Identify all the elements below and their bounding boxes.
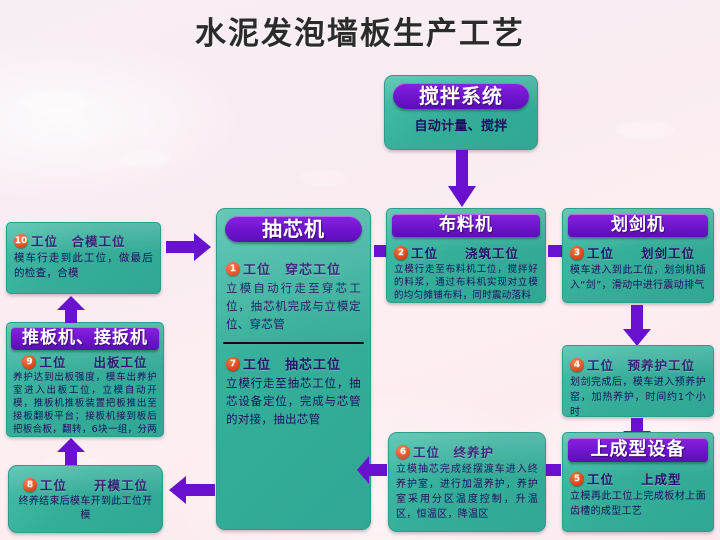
background-blob xyxy=(20,90,90,116)
board-pusher-header: 推板机、接扳机 xyxy=(11,327,159,350)
core-machine-step-1-body: 立模自动行走至穿芯工位，抽芯机完成与立模定位、穿芯管 xyxy=(226,279,361,333)
station-number-badge: 1 xyxy=(226,262,240,276)
arrow-finalcuring-to-coremachine xyxy=(356,455,388,485)
forming-station-line: 5 工位 上成型 xyxy=(570,469,706,488)
station-number-badge: 8 xyxy=(23,478,37,492)
station-label: 工位 穿芯工位 xyxy=(243,259,341,278)
station-number-badge: 9 xyxy=(22,355,36,369)
mold-close-station-line: 10 工位 合模工位 xyxy=(14,231,153,250)
station-number-badge: 4 xyxy=(570,358,584,372)
arrow-swordmachine-to-precuring xyxy=(622,305,652,347)
station-number-badge: 5 xyxy=(570,472,584,486)
node-demold-station[interactable]: 8 工位 开模工位 终养结束后模车开到此工位开模 xyxy=(8,465,163,533)
node-distributor-machine[interactable]: 布料机 2 工位 浇筑工位 立模行走至布料机工位，搅拌好的料浆，通过布料机实现对… xyxy=(386,208,546,303)
node-core-machine[interactable]: 抽芯机 1 工位 穿芯工位 立模自动行走至穿芯工位，抽芯机完成与立模定位、穿芯管… xyxy=(216,208,371,530)
sword-machine-header: 划剑机 xyxy=(568,214,708,237)
core-machine-step-1-line: 1 工位 穿芯工位 xyxy=(226,259,361,278)
final-curing-body: 立模抽芯完成经摆渡车进入终养护室，进行加温养护，养护室采用分区温度控制，升温区，… xyxy=(396,462,538,522)
station-number-badge: 3 xyxy=(570,246,584,260)
node-mold-close-station[interactable]: 10 工位 合模工位 模车行走到此工位，做最后的检查，合模 xyxy=(6,222,161,294)
mixing-system-header: 搅拌系统 xyxy=(393,83,529,109)
forming-equipment-header: 上成型设备 xyxy=(568,438,708,462)
node-forming-equipment[interactable]: 上成型设备 5 工位 上成型 立模再此工位上完成板材上面齿槽的成型工艺 xyxy=(562,432,714,532)
pre-curing-body: 划剑完成后，模车进入预养护窑，加热养护，时间约1个小时 xyxy=(570,375,706,417)
background-blob xyxy=(120,150,170,168)
station-number-badge: 6 xyxy=(396,445,410,459)
station-label: 工位 终养护 xyxy=(413,442,494,461)
pre-curing-station-line: 4 工位 预养护工位 xyxy=(570,355,706,374)
mixing-system-body: 自动计量、搅拌 xyxy=(385,118,537,136)
station-label: 工位 合模工位 xyxy=(31,231,126,250)
node-final-curing-station[interactable]: 6 工位 终养护 立模抽芯完成经摆渡车进入终养护室，进行加温养护，养护室采用分区… xyxy=(388,432,546,532)
node-mixing-system[interactable]: 搅拌系统 自动计量、搅拌 xyxy=(384,75,538,150)
station-label: 工位 预养护工位 xyxy=(587,355,695,374)
forming-body: 立模再此工位上完成板材上面齿槽的成型工艺 xyxy=(570,489,706,519)
core-machine-step-7-body: 立模行走至抽芯工位，抽芯设备定位，完成与芯管的对接，抽出芯管 xyxy=(226,374,361,428)
node-board-pusher[interactable]: 推板机、接扳机 9 工位 出板工位 养护达到出板强度，模车出养护室进入出板工位，… xyxy=(6,322,164,437)
station-label: 工位 划剑工位 xyxy=(587,243,695,262)
station-number-badge: 7 xyxy=(226,357,240,371)
station-label: 工位 浇筑工位 xyxy=(411,243,519,262)
core-machine-header: 抽芯机 xyxy=(225,216,362,242)
sword-machine-body: 模车进入到此工位，划剑机插入“剑”，滑动中进行震动排气 xyxy=(570,263,706,293)
arrow-coremachine-to-demold xyxy=(168,475,216,505)
board-pusher-station-line: 9 工位 出板工位 xyxy=(13,352,157,371)
flowchart-canvas: 水泥发泡墙板生产工艺 搅拌系统 自动计量、搅拌 10 工位 合模工位 模车行走到… xyxy=(0,0,720,540)
arrow-moldclose-to-coremachine xyxy=(166,232,212,262)
core-machine-divider xyxy=(223,342,364,344)
demold-station-line: 8 工位 开模工位 xyxy=(16,475,155,494)
demold-body: 终养结束后模车开到此工位开模 xyxy=(16,495,155,523)
arrow-mixing-to-distributor xyxy=(447,150,477,208)
background-blob xyxy=(300,170,346,186)
arrow-boardpusher-to-moldclose xyxy=(56,296,86,324)
page-title: 水泥发泡墙板生产工艺 xyxy=(0,8,720,53)
background-blob xyxy=(615,120,675,140)
mold-close-station-body: 模车行走到此工位，做最后的检查，合模 xyxy=(14,251,153,281)
final-curing-station-line: 6 工位 终养护 xyxy=(396,442,538,461)
station-label: 工位 出板工位 xyxy=(39,352,147,371)
distributor-header: 布料机 xyxy=(392,214,540,237)
station-label: 工位 开模工位 xyxy=(40,475,148,494)
arrow-demold-to-boardpusher xyxy=(56,438,86,466)
distributor-station-line: 2 工位 浇筑工位 xyxy=(394,243,538,262)
core-machine-step-7-line: 7 工位 抽芯工位 xyxy=(226,354,361,373)
node-sword-machine[interactable]: 划剑机 3 工位 划剑工位 模车进入到此工位，划剑机插入“剑”，滑动中进行震动排… xyxy=(562,208,714,303)
distributor-body: 立模行走至布料机工位，搅拌好的料浆，通过布料机实现对立模的均匀摊铺布料，同时震动… xyxy=(394,263,538,302)
board-pusher-body: 养护达到出板强度，模车出养护室进入出板工位，立模自动开模，推板机推板装置把板推出… xyxy=(13,371,157,437)
station-number-badge: 2 xyxy=(394,246,408,260)
node-pre-curing-station[interactable]: 4 工位 预养护工位 划剑完成后，模车进入预养护窑，加热养护，时间约1个小时 xyxy=(562,345,714,417)
sword-machine-station-line: 3 工位 划剑工位 xyxy=(570,243,706,262)
station-label: 工位 上成型 xyxy=(587,469,682,488)
station-number-badge: 10 xyxy=(14,234,28,248)
station-label: 工位 抽芯工位 xyxy=(243,354,341,373)
